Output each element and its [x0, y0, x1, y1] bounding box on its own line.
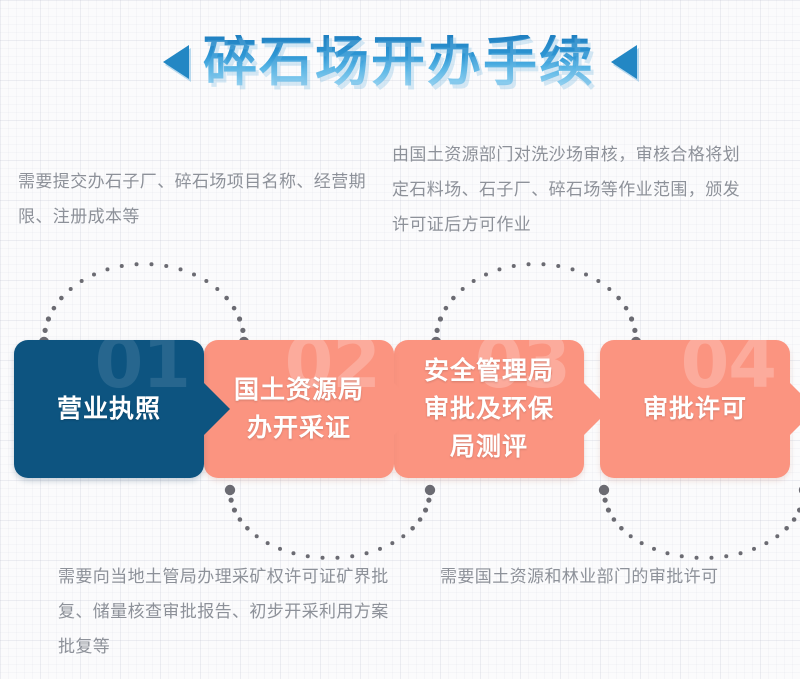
infographic-page: 碎石场开办手续 需要提交办石子厂、碎石场项目名称、经营期限、注册成本等 由国土资…: [0, 0, 800, 679]
chevron-right-icon: [204, 383, 230, 435]
flow-step-03-label: 安全管理局 审批及环保 局测评: [414, 352, 564, 466]
flow-step-04[interactable]: 04 审批许可: [600, 340, 790, 478]
arc-bottom-right: [596, 482, 800, 564]
description-top-left: 需要提交办石子厂、碎石场项目名称、经营期限、注册成本等: [18, 165, 378, 235]
flow-step-04-label: 审批许可: [633, 390, 757, 428]
process-flow: 01 营业执照 02 国土资源局 办开采证 03 安全管理局 审批及环保 局测评…: [0, 340, 800, 480]
header-right-triangle-icon: [611, 45, 637, 79]
flow-step-01-label: 营业执照: [47, 390, 171, 428]
flow-step-03-label-line3: 局测评: [450, 432, 528, 461]
description-top-right: 由国土资源部门对洗沙场审核，审核合格将划定石料场、石子厂、碎石场等作业范围，颁发…: [392, 138, 742, 243]
description-bottom-left: 需要向当地土管局办理采矿权许可证矿界批复、储量核查审批报告、初步开采利用方案批复…: [58, 560, 403, 665]
flow-step-04-number: 04: [681, 328, 776, 398]
arc-bottom-left: [222, 482, 438, 564]
flow-step-02-label-line1: 国土资源局: [234, 375, 364, 404]
arc-top-left: [36, 258, 252, 350]
flow-step-01[interactable]: 01 营业执照: [14, 340, 204, 478]
flow-step-02[interactable]: 02 国土资源局 办开采证: [204, 340, 394, 478]
description-bottom-right: 需要国土资源和林业部门的审批许可: [440, 560, 790, 595]
flow-step-03-label-line1: 安全管理局: [424, 356, 554, 385]
header-left-triangle-icon: [163, 45, 189, 79]
flow-step-03-label-line2: 审批及环保: [424, 394, 554, 423]
chevron-right-icon: [394, 383, 420, 435]
chevron-right-icon: [584, 383, 610, 435]
arc-top-right: [428, 258, 644, 350]
flow-step-02-label: 国土资源局 办开采证: [224, 371, 374, 447]
page-header: 碎石场开办手续: [0, 18, 800, 106]
flow-step-02-label-line2: 办开采证: [247, 413, 351, 442]
chevron-right-icon: [790, 383, 800, 435]
page-title: 碎石场开办手续: [201, 35, 597, 89]
flow-step-03[interactable]: 03 安全管理局 审批及环保 局测评: [394, 340, 584, 478]
